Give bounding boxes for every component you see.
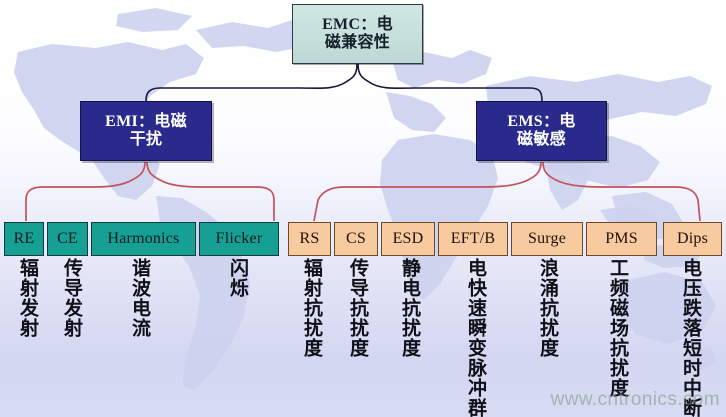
link-ems-branch-right bbox=[543, 162, 700, 221]
node-ems[interactable]: EMS：电 磁敏感 bbox=[476, 101, 607, 161]
leaf-label-esd: 静电抗扰度 bbox=[400, 258, 419, 358]
leaf-label-cs: 传导抗扰度 bbox=[348, 258, 367, 358]
leaf-label-pms: 工频磁场抗扰度 bbox=[608, 258, 627, 398]
leaf-box-cs[interactable]: CS bbox=[334, 222, 378, 256]
leaf-label-rs: 辐射抗扰度 bbox=[302, 258, 321, 358]
leaf-label-harmonics: 谐波电流 bbox=[130, 258, 149, 338]
leaf-box-dips[interactable]: Dips bbox=[663, 222, 722, 256]
link-emc-emi bbox=[146, 64, 357, 101]
leaf-label-re: 辐射发射 bbox=[18, 258, 37, 338]
leaf-box-harmonics[interactable]: Harmonics bbox=[91, 222, 196, 256]
diagram-canvas: EMC：电 磁兼容性 EMI：电磁 干扰 EMS：电 磁敏感 RE辐射发射CE传… bbox=[0, 0, 726, 417]
node-emc[interactable]: EMC：电 磁兼容性 bbox=[292, 4, 423, 64]
leaf-box-re[interactable]: RE bbox=[4, 222, 44, 256]
leaf-box-rs[interactable]: RS bbox=[288, 222, 331, 256]
leaf-box-flicker[interactable]: Flicker bbox=[199, 222, 279, 256]
node-emc-line1: EMC：电 bbox=[322, 16, 393, 34]
leaf-label-eft-b: 电快速瞬变脉冲群 bbox=[466, 258, 485, 417]
leaf-label-ce: 传导发射 bbox=[62, 258, 81, 338]
leaf-box-ce[interactable]: CE bbox=[47, 222, 88, 256]
link-emi-branch-left bbox=[26, 162, 145, 221]
node-ems-line1: EMS：电 bbox=[507, 113, 575, 131]
node-emi[interactable]: EMI：电磁 干扰 bbox=[80, 101, 212, 161]
leaf-box-esd[interactable]: ESD bbox=[381, 222, 435, 256]
leaf-box-eft-b[interactable]: EFT/B bbox=[438, 222, 508, 256]
node-emi-line2: 干扰 bbox=[105, 131, 187, 149]
node-emc-line2: 磁兼容性 bbox=[322, 34, 393, 52]
link-ems-branch-left bbox=[314, 162, 541, 221]
link-emc-ems bbox=[358, 64, 542, 101]
link-emi-branch-right bbox=[147, 162, 274, 221]
leaf-label-surge: 浪涌抗扰度 bbox=[538, 258, 557, 358]
watermark: www.cntronics.com bbox=[551, 389, 720, 411]
node-ems-line2: 磁敏感 bbox=[507, 131, 575, 149]
leaf-box-surge[interactable]: Surge bbox=[511, 222, 583, 256]
leaf-label-flicker: 闪烁 bbox=[228, 258, 247, 298]
leaf-box-pms[interactable]: PMS bbox=[586, 222, 657, 256]
node-emi-line1: EMI：电磁 bbox=[105, 113, 187, 131]
